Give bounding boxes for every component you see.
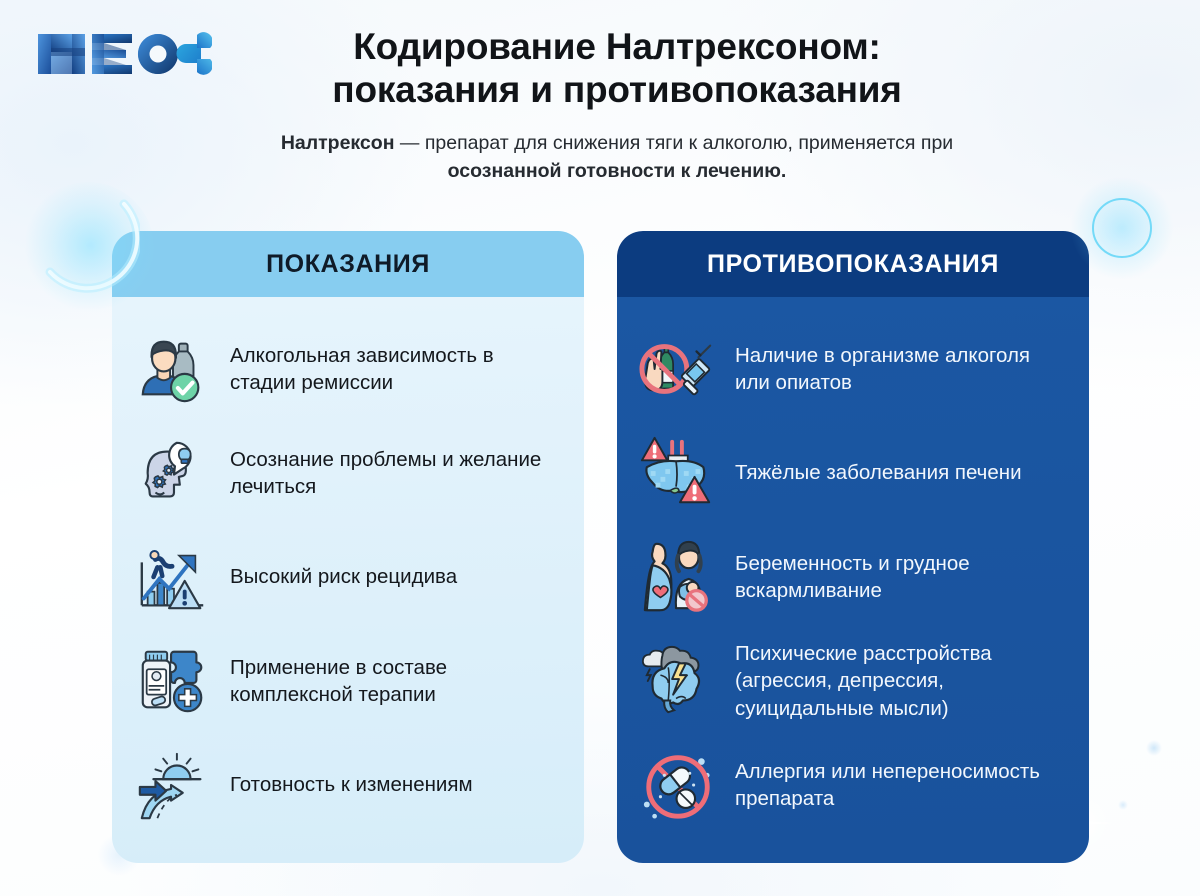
list-item: Психические расстройства (агрессия, депр… — [639, 629, 1065, 733]
card-indications-heading: ПОКАЗАНИЯ — [112, 231, 584, 297]
card-indications: ПОКАЗАНИЯ Алкогольная зависи — [112, 231, 584, 863]
cards-row: ПОКАЗАНИЯ Алкогольная зависи — [0, 231, 1200, 861]
no-pills-allergy-icon — [639, 746, 717, 824]
page-header: Кодирование Налтрексоном: показания и пр… — [0, 0, 1200, 215]
list-item-label: Наличие в организме алкоголя или опиатов — [735, 342, 1065, 397]
liver-warning-icon — [639, 434, 717, 512]
list-item-label: Готовность к изменениям — [230, 771, 560, 798]
pill-bottle-puzzle-plus-icon — [134, 642, 212, 720]
brain-storm-cloud-icon — [639, 642, 717, 720]
page-subtitle: Налтрексон — препарат для снижения тяги … — [222, 130, 1012, 185]
page-title: Кодирование Налтрексоном: показания и пр… — [222, 26, 1012, 112]
list-item: Аллергия или непереносимость препарата — [639, 733, 1065, 837]
list-item: Алкогольная зависимость в стадии ремисси… — [134, 317, 560, 421]
list-item-label: Осознание проблемы и желание лечиться — [230, 446, 560, 501]
pregnancy-breastfeeding-ban-icon — [639, 538, 717, 616]
page-subtitle-strong-2: осознанной готовности к лечению. — [448, 160, 787, 182]
list-item-label: Тяжёлые заболевания печени — [735, 459, 1065, 486]
list-item: Беременность и грудное вскармливание — [639, 525, 1065, 629]
list-item-label: Аллергия или непереносимость препарата — [735, 758, 1065, 813]
title-block: Кодирование Налтрексоном: показания и пр… — [222, 26, 1012, 185]
neo-plus-logo-icon — [36, 26, 212, 82]
list-item-label: Беременность и грудное вскармливание — [735, 550, 1065, 605]
person-bottle-check-icon — [134, 330, 212, 408]
list-item: Осознание проблемы и желание лечиться — [134, 421, 560, 525]
no-alcohol-syringe-icon — [639, 330, 717, 408]
list-item: Высокий риск рецидива — [134, 525, 560, 629]
page-subtitle-strong-1: Налтрексон — [281, 132, 395, 154]
sunrise-road-arrow-icon — [134, 746, 212, 824]
list-item-label: Применение в составе комплексной терапии — [230, 654, 560, 709]
list-item: Применение в составе комплексной терапии — [134, 629, 560, 733]
card-indications-body: Алкогольная зависимость в стадии ремисси… — [112, 297, 584, 863]
brand-logo[interactable] — [36, 25, 212, 83]
page-title-line-1: Кодирование Налтрексоном: — [222, 26, 1012, 69]
list-item-label: Алкогольная зависимость в стадии ремисси… — [230, 342, 560, 397]
card-contraindications: ПРОТИВОПОКАЗАНИЯ — [617, 231, 1089, 863]
list-item: Тяжёлые заболевания печени — [639, 421, 1065, 525]
rising-chart-person-warning-icon — [134, 538, 212, 616]
list-item-label: Психические расстройства (агрессия, депр… — [735, 640, 1065, 722]
card-contraindications-body: Наличие в организме алкоголя или опиатов — [617, 297, 1089, 863]
page-title-line-2: показания и противопоказания — [222, 69, 1012, 112]
head-gears-lightbulb-icon — [134, 434, 212, 512]
list-item: Готовность к изменениям — [134, 733, 560, 837]
page-subtitle-middle: — препарат для снижения тяги к алкоголю,… — [394, 132, 953, 154]
list-item: Наличие в организме алкоголя или опиатов — [639, 317, 1065, 421]
list-item-label: Высокий риск рецидива — [230, 563, 560, 590]
card-contraindications-heading: ПРОТИВОПОКАЗАНИЯ — [617, 231, 1089, 297]
